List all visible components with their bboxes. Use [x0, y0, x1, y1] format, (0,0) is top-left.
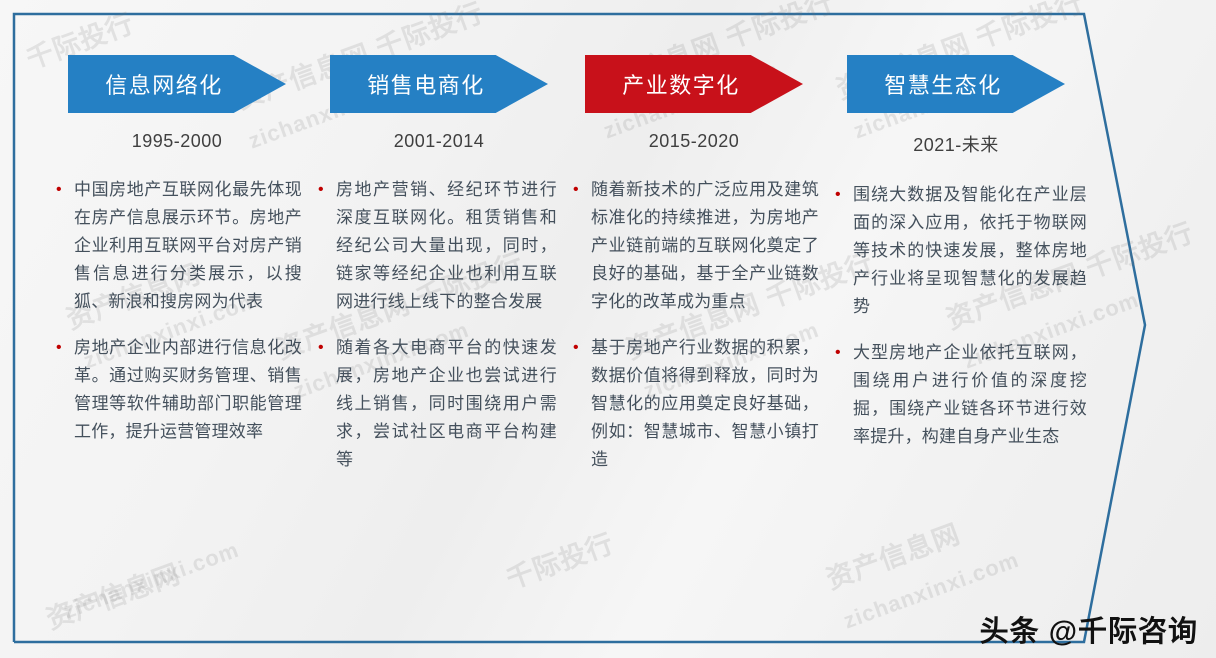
stage-banner[interactable]: 销售电商化 — [330, 55, 548, 113]
bullet-item: •随着新技术的广泛应用及建筑标准化的持续推进，为房地产产业链前端的互联网化奠定了… — [573, 176, 819, 316]
bullet-dot-icon: • — [835, 181, 853, 321]
bullet-dot-icon: • — [318, 334, 336, 474]
bullet-text: 围绕大数据及智能化在产业层面的深入应用，依托于物联网等技术的快速发展，整体房地产… — [853, 181, 1087, 321]
stage-title: 信息网络化 — [105, 68, 249, 100]
bullet-dot-icon: • — [835, 339, 853, 451]
stage-period: 2001-2014 — [330, 131, 548, 152]
bullet-text: 随着新技术的广泛应用及建筑标准化的持续推进，为房地产产业链前端的互联网化奠定了良… — [591, 176, 819, 316]
stage-column: 产业数字化2015-2020•随着新技术的广泛应用及建筑标准化的持续推进，为房地… — [557, 55, 819, 492]
stage-column: 销售电商化2001-2014•房地产营销、经纪环节进行深度互联网化。租赁销售和经… — [302, 55, 557, 492]
bullet-dot-icon: • — [573, 334, 591, 474]
stage-title: 销售电商化 — [367, 68, 511, 100]
bullet-dot-icon: • — [56, 334, 74, 446]
bullet-text: 房地产企业内部进行信息化改革。通过购买财务管理、销售管理等软件辅助部门职能管理工… — [74, 334, 302, 446]
stage-banner-wrap: 销售电商化 — [302, 55, 557, 117]
stage-period: 2015-2020 — [585, 131, 803, 152]
bullet-text: 随着各大电商平台的快速发展，房地产企业也尝试进行线上销售，同时围绕用户需求，尝试… — [336, 334, 557, 474]
stage-banner[interactable]: 产业数字化 — [585, 55, 803, 113]
bullet-text: 大型房地产企业依托互联网，围绕用户进行价值的深度挖掘，围绕产业链各环节进行效率提… — [853, 339, 1087, 451]
stage-column: 智慧生态化2021-未来•围绕大数据及智能化在产业层面的深入应用，依托于物联网等… — [819, 55, 1087, 492]
bullet-item: •基于房地产行业数据的积累，数据价值将得到释放，同时为智慧化的应用奠定良好基础，… — [573, 334, 819, 474]
stage-title: 智慧生态化 — [884, 68, 1028, 100]
bullet-item: •房地产营销、经纪环节进行深度互联网化。租赁销售和经纪公司大量出现，同时，链家等… — [318, 176, 557, 316]
bullet-dot-icon: • — [56, 176, 74, 316]
stage-banner[interactable]: 智慧生态化 — [847, 55, 1065, 113]
stage-banner-wrap: 智慧生态化 — [819, 55, 1087, 117]
stage-bullet-list: •随着新技术的广泛应用及建筑标准化的持续推进，为房地产产业链前端的互联网化奠定了… — [557, 176, 819, 474]
bullet-item: •大型房地产企业依托互联网，围绕用户进行价值的深度挖掘，围绕产业链各环节进行效率… — [835, 339, 1087, 451]
bullet-text: 房地产营销、经纪环节进行深度互联网化。租赁销售和经纪公司大量出现，同时，链家等经… — [336, 176, 557, 316]
stage-bullet-list: •围绕大数据及智能化在产业层面的深入应用，依托于物联网等技术的快速发展，整体房地… — [819, 181, 1087, 451]
stage-banner-wrap: 信息网络化 — [40, 55, 302, 117]
stage-banner[interactable]: 信息网络化 — [68, 55, 286, 113]
stage-columns: 信息网络化1995-2000•中国房地产互联网化最先体现在房产信息展示环节。房地… — [40, 55, 1150, 492]
bullet-item: •随着各大电商平台的快速发展，房地产企业也尝试进行线上销售，同时围绕用户需求，尝… — [318, 334, 557, 474]
slide-content: 信息网络化1995-2000•中国房地产互联网化最先体现在房产信息展示环节。房地… — [0, 0, 1216, 658]
stage-banner-wrap: 产业数字化 — [557, 55, 819, 117]
bullet-item: •围绕大数据及智能化在产业层面的深入应用，依托于物联网等技术的快速发展，整体房地… — [835, 181, 1087, 321]
stage-title: 产业数字化 — [622, 68, 766, 100]
stage-period: 2021-未来 — [847, 131, 1065, 157]
bullet-item: •中国房地产互联网化最先体现在房产信息展示环节。房地产企业利用互联网平台对房产销… — [56, 176, 302, 316]
stage-column: 信息网络化1995-2000•中国房地产互联网化最先体现在房产信息展示环节。房地… — [40, 55, 302, 492]
bullet-text: 中国房地产互联网化最先体现在房产信息展示环节。房地产企业利用互联网平台对房产销售… — [74, 176, 302, 316]
stage-bullet-list: •中国房地产互联网化最先体现在房产信息展示环节。房地产企业利用互联网平台对房产销… — [40, 176, 302, 446]
bullet-dot-icon: • — [318, 176, 336, 316]
bullet-text: 基于房地产行业数据的积累，数据价值将得到释放，同时为智慧化的应用奠定良好基础，例… — [591, 334, 819, 474]
stage-bullet-list: •房地产营销、经纪环节进行深度互联网化。租赁销售和经纪公司大量出现，同时，链家等… — [302, 176, 557, 474]
bullet-item: •房地产企业内部进行信息化改革。通过购买财务管理、销售管理等软件辅助部门职能管理… — [56, 334, 302, 446]
bullet-dot-icon: • — [573, 176, 591, 316]
attribution-label: 头条 @千际咨询 — [980, 608, 1198, 650]
stage-period: 1995-2000 — [68, 131, 286, 152]
